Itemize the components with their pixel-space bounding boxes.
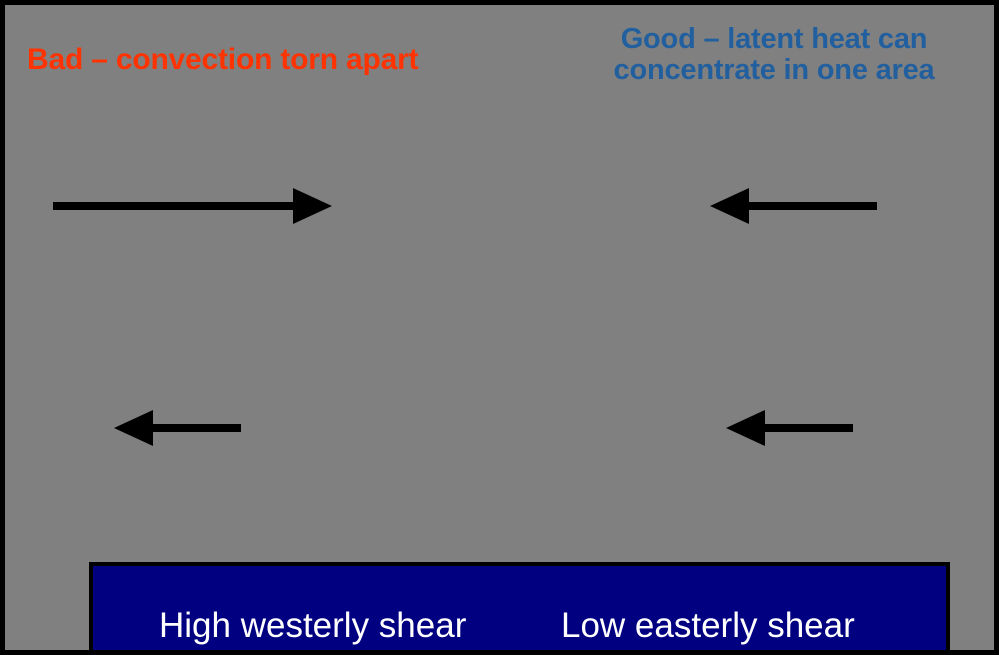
shear-label-low-easterly: Low easterly shear — [561, 608, 855, 649]
arrow-left-icon-lower-west — [111, 407, 241, 449]
arrow-left-icon-lower-east — [723, 407, 853, 449]
heading-good-shear: Good – latent heat can concentrate in on… — [565, 24, 983, 87]
arrow-left-icon-upper-east — [709, 185, 877, 227]
shear-diagram-slide: Bad – convection torn apart Good – laten… — [0, 0, 999, 655]
shear-label-high-westerly: High westerly shear — [159, 608, 466, 649]
arrow-right-icon-upper-west — [53, 185, 333, 227]
shear-summary-banner: High westerly shear Low easterly shear — [89, 562, 950, 655]
heading-bad-shear: Bad – convection torn apart — [27, 44, 418, 76]
